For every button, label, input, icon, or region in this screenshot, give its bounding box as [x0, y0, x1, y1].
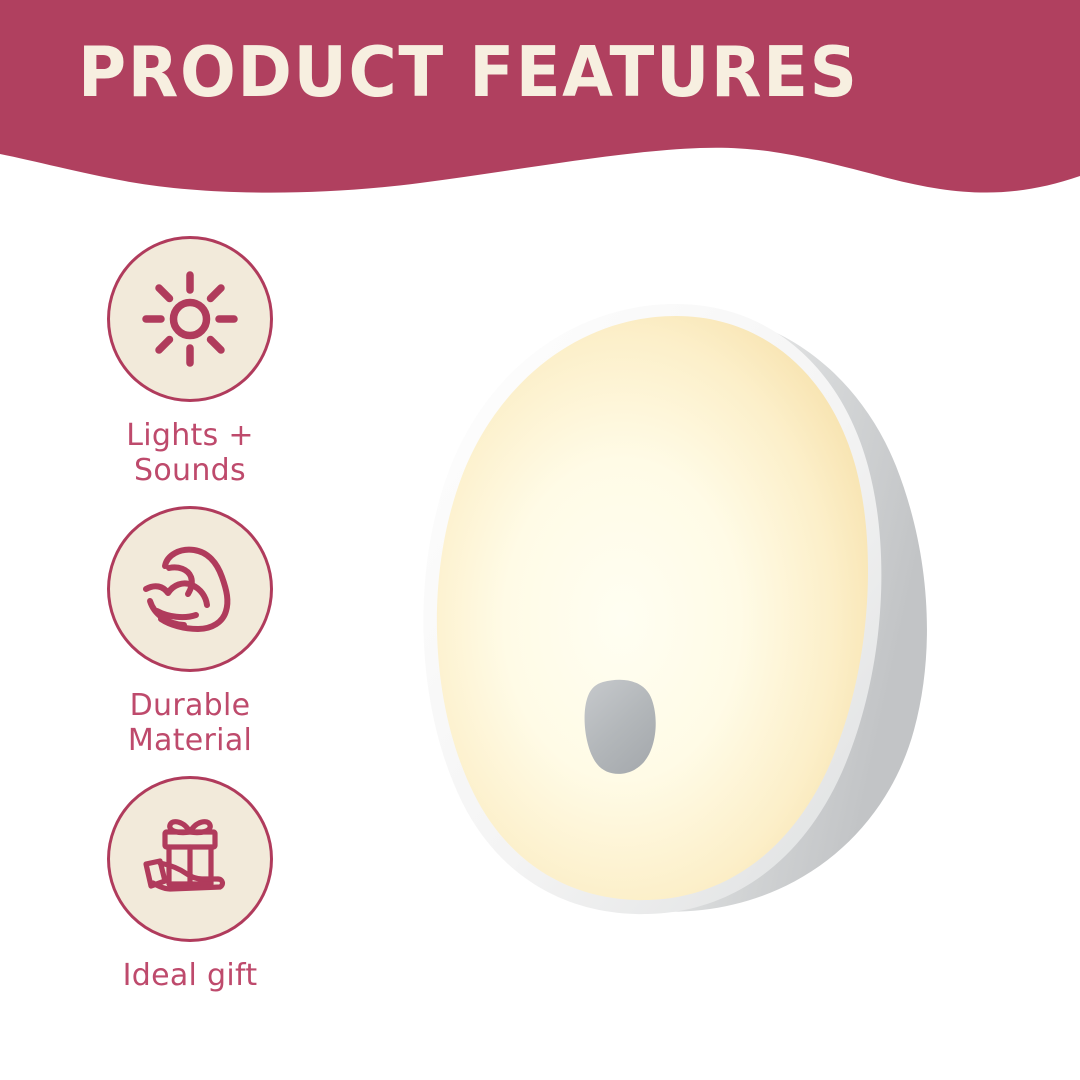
sun-icon: [140, 269, 240, 369]
feature-badge: [107, 236, 273, 402]
feature-badge: [107, 776, 273, 942]
infographic-canvas: PRODUCT FEATURES: [0, 0, 1080, 1080]
feature-badge: [107, 506, 273, 672]
feature-item-durable-material[interactable]: Durable Material: [0, 506, 380, 759]
feature-label: Lights + Sounds: [0, 418, 380, 489]
product-image-night-light: [390, 290, 970, 940]
feature-label: Durable Material: [0, 688, 380, 759]
feature-label: Ideal gift: [0, 958, 380, 993]
flexed-bicep-icon: [134, 539, 246, 639]
feature-item-ideal-gift[interactable]: Ideal gift: [0, 776, 380, 993]
feature-item-lights-sounds[interactable]: Lights + Sounds: [0, 236, 380, 489]
hand-holding-gift-icon: [134, 809, 246, 909]
page-title: PRODUCT FEATURES: [78, 38, 859, 107]
power-button[interactable]: [585, 680, 656, 774]
